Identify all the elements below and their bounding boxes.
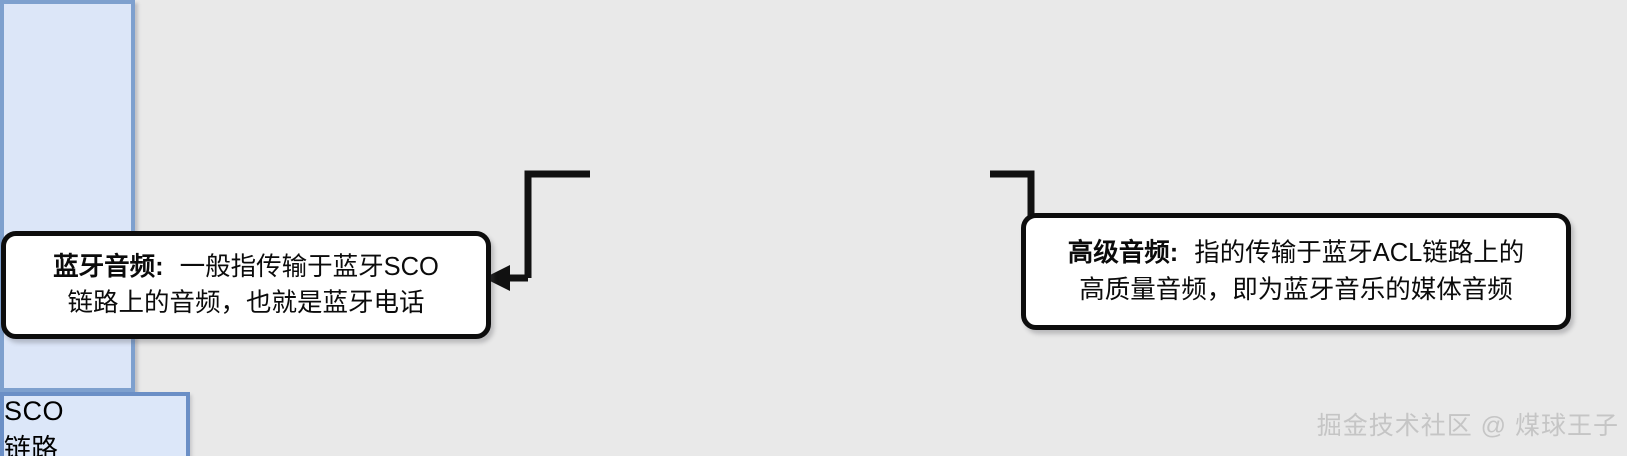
sco-link-ellipse: SCO 链路 <box>0 392 190 456</box>
diagram-canvas: SCO 链路 ACL 链路 蓝牙音频:一般指传输于蓝牙SCO链路上的音频，也就是… <box>0 0 1627 456</box>
bluetooth-audio-callout: 蓝牙音频:一般指传输于蓝牙SCO链路上的音频，也就是蓝牙电话 <box>1 231 491 339</box>
advanced-audio-title: 高级音频: <box>1068 239 1179 267</box>
bluetooth-audio-callout-text: 蓝牙音频:一般指传输于蓝牙SCO链路上的音频，也就是蓝牙电话 <box>6 249 486 321</box>
advanced-audio-callout-text: 高级音频:指的传输于蓝牙ACL链路上的高质量音频，即为蓝牙音乐的媒体音频 <box>1026 235 1566 307</box>
bluetooth-audio-body-line-2: 链路上的音频，也就是蓝牙电话 <box>67 289 424 317</box>
bluetooth-audio-body-line-1: 一般指传输于蓝牙SCO <box>180 253 439 281</box>
advanced-audio-callout: 高级音频:指的传输于蓝牙ACL链路上的高质量音频，即为蓝牙音乐的媒体音频 <box>1021 213 1571 330</box>
watermark: 掘金技术社区 @ 煤球王子 <box>1317 406 1619 442</box>
advanced-audio-body-line-1: 指的传输于蓝牙ACL链路上的 <box>1194 239 1524 267</box>
sco-label-line-1: SCO <box>4 396 186 427</box>
connector-elbow-line <box>528 174 590 278</box>
sco-label-line-2: 链路 <box>4 427 186 456</box>
advanced-audio-body-line-2: 高质量音频，即为蓝牙音乐的媒体音频 <box>1079 276 1513 304</box>
bluetooth-audio-title: 蓝牙音频: <box>53 253 164 281</box>
